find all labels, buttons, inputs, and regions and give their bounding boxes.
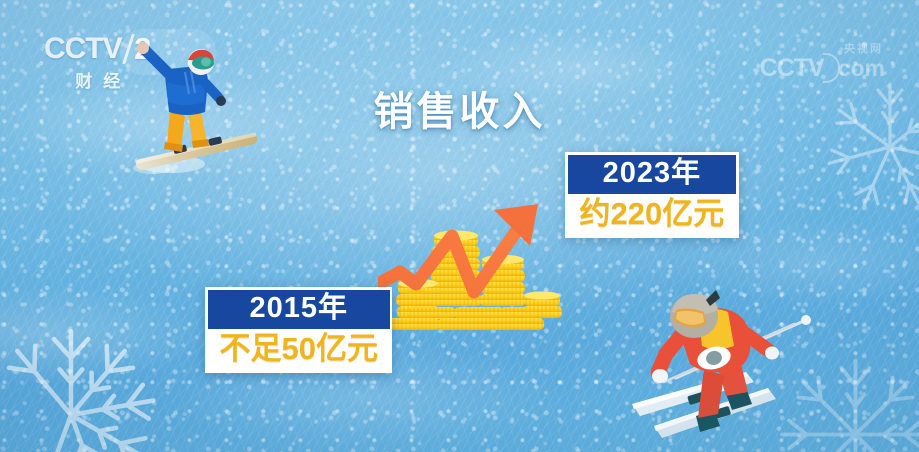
callout-2015-year: 2015年 [208,290,390,330]
watermark-com-text: com [838,57,885,80]
callout-2023: 2023年 约220亿元 [565,152,739,238]
growth-coins-arrow-graphic [378,196,578,346]
callout-2023-year: 2023年 [568,155,737,195]
alpine-skier-figure [618,276,828,452]
callout-2015-value: 不足50亿元 [208,329,390,371]
broadcast-frame: CCTV 2 财经 央视网 CCTV com 销售收入 [0,0,919,452]
snowflake-icon-bottom-left [0,320,176,452]
watermark-cctv-text: CCTV [760,56,824,81]
snowboarder-figure [115,42,265,192]
callout-2023-value: 约220亿元 [568,194,737,236]
callout-2015: 2015年 不足50亿元 [205,287,392,373]
logo-cctv-text: CCTV [44,34,122,64]
cctv-com-watermark: 央视网 CCTV com [760,40,885,83]
